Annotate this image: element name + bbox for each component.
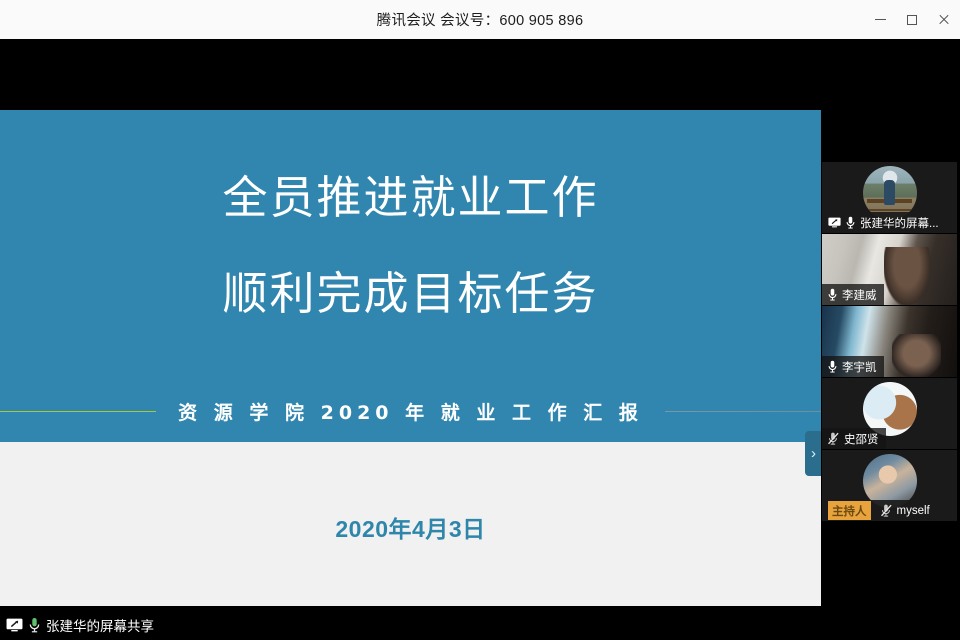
window-title: 腾讯会议 会议号：600 905 896 (377, 9, 584, 30)
participant-label: 史邵贤 (822, 428, 886, 449)
mic-on-icon (29, 617, 40, 633)
participant-label: 张建华的屏幕... (822, 212, 957, 233)
participant-label: 李建威 (822, 284, 884, 305)
subtitle-rule-left (0, 411, 156, 413)
participant-label: 主持人 myself (822, 500, 957, 521)
host-badge: 主持人 (828, 501, 871, 520)
slide-title-line-1: 全员推进就业工作 (0, 150, 821, 246)
shared-screen-slide[interactable]: 全员推进就业工作 顺利完成目标任务 资 源 学 院 2020 年 就 业 工 作… (0, 110, 821, 606)
slide-date: 2020年4月3日 (0, 510, 821, 544)
participant-strip[interactable]: 张建华的屏幕... 李建威 (822, 162, 957, 547)
participant-name: myself (897, 505, 930, 517)
title-bar: 腾讯会议 会议号：600 905 896 (0, 0, 960, 39)
participant-label: 李宇凯 (822, 356, 884, 377)
subtitle-rule-right (665, 411, 821, 413)
maximize-icon (907, 15, 917, 25)
window-controls (864, 0, 960, 39)
status-bar-text: 张建华的屏幕共享 (46, 615, 154, 635)
participant-tile[interactable]: 李建威 (822, 234, 957, 306)
participant-name: 李宇凯 (842, 359, 877, 375)
slide-subtitle-row: 资 源 学 院 2020 年 就 业 工 作 汇 报 (0, 398, 821, 425)
slide-title-line-2: 顺利完成目标任务 (0, 246, 821, 342)
meeting-stage: 全员推进就业工作 顺利完成目标任务 资 源 学 院 2020 年 就 业 工 作… (0, 39, 960, 640)
participant-name: 史邵贤 (844, 431, 879, 447)
collapse-panel-button[interactable]: › (805, 431, 821, 476)
participant-tile[interactable]: 主持人 myself (822, 450, 957, 522)
mic-on-icon (846, 216, 855, 229)
maximize-button[interactable] (896, 0, 928, 39)
slide-title-block: 全员推进就业工作 顺利完成目标任务 (0, 150, 821, 342)
close-icon (938, 14, 950, 26)
participant-name: 张建华的屏幕... (860, 215, 939, 231)
screen-share-icon (828, 217, 841, 228)
minimize-button[interactable] (864, 0, 896, 39)
participant-tile[interactable]: 史邵贤 (822, 378, 957, 450)
status-bar: 张建华的屏幕共享 (0, 610, 960, 640)
mic-off-icon (881, 504, 892, 517)
participant-tile[interactable]: 李宇凯 (822, 306, 957, 378)
close-button[interactable] (928, 0, 960, 39)
participant-name: 李建威 (842, 287, 877, 303)
minimize-icon (875, 19, 886, 20)
mic-off-icon (828, 432, 839, 445)
mic-on-icon (828, 360, 837, 373)
screen-share-icon (6, 618, 23, 632)
chevron-right-icon: › (811, 446, 816, 461)
tencent-meeting-window: 腾讯会议 会议号：600 905 896 全员推进就业工作 顺利完成目标任务 (0, 0, 960, 640)
participant-tile[interactable]: 张建华的屏幕... (822, 162, 957, 234)
mic-on-icon (828, 288, 837, 301)
slide-subtitle: 资 源 学 院 2020 年 就 业 工 作 汇 报 (178, 398, 643, 425)
